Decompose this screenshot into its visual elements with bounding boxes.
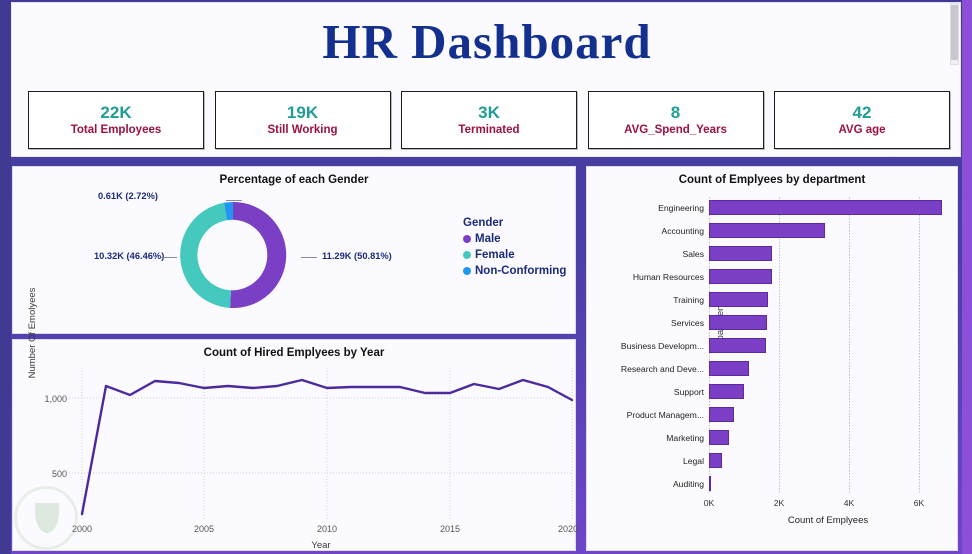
dashboard-root: HR Dashboard 22K Total Employees 19K Sti… (0, 0, 972, 554)
bar-services[interactable] (709, 315, 767, 330)
kpi-card-terminated[interactable]: 3K Terminated (401, 91, 577, 149)
bar-category-label: Support (674, 387, 704, 397)
bar-support[interactable] (709, 384, 744, 399)
chart-title-hires: Count of Hired Emplyees by Year (13, 347, 575, 359)
bar-category-label: Engineering (658, 203, 704, 213)
kpi-value: 3K (478, 102, 500, 123)
kpi-value: 8 (671, 102, 680, 123)
bar-x-tick: 0K (704, 498, 715, 508)
bar-category-label: Legal (683, 456, 704, 466)
line-chart-svg (69, 368, 573, 520)
bar-legal[interactable] (709, 453, 722, 468)
bar-category-label: Services (671, 318, 704, 328)
line-chart-x-tick: 2000 (72, 524, 92, 534)
chart-title-departments: Count of Emplyees by department (587, 174, 957, 186)
leader-line-female (161, 257, 177, 258)
donut-svg (163, 193, 303, 318)
page-title: HR Dashboard (12, 7, 962, 77)
legend-label: Male (475, 233, 501, 245)
donut-slice-female (180, 203, 231, 308)
bar-product-management[interactable] (709, 407, 734, 422)
bar-engineering[interactable] (709, 200, 942, 215)
donut-chart[interactable] (163, 193, 303, 318)
bar-chart[interactable]: department Engineering Accounting Sales … (709, 197, 947, 494)
bar-category-label: Sales (683, 249, 705, 259)
hires-by-year-panel: Count of Hired Emplyees by Year Number O… (12, 339, 576, 551)
bar-x-tick: 2K (774, 498, 785, 508)
legend-item-non-conforming[interactable]: Non-Conforming (463, 265, 566, 277)
legend-item-female[interactable]: Female (463, 249, 566, 261)
line-chart-y-tick: 500 (52, 469, 67, 479)
kpi-label: Terminated (458, 123, 519, 138)
bar-x-tick: 6K (914, 498, 925, 508)
leader-line-non-conforming (226, 200, 242, 201)
bar-category-label: Human Resources (633, 272, 704, 282)
kpi-card-still-working[interactable]: 19K Still Working (215, 91, 391, 149)
bar-sales[interactable] (709, 246, 772, 261)
bar-gridline (919, 197, 920, 494)
line-chart-x-tick: 2015 (440, 524, 460, 534)
legend-item-male[interactable]: Male (463, 233, 566, 245)
legend-swatch-icon (463, 267, 471, 275)
bar-accounting[interactable] (709, 223, 825, 238)
bar-marketing[interactable] (709, 430, 729, 445)
line-chart-x-axis-label: Year (69, 540, 573, 551)
kpi-card-avg-spend-years[interactable]: 8 AVG_Spend_Years (588, 91, 764, 149)
legend-label: Non-Conforming (475, 265, 566, 277)
bar-category-label: Product Managem... (627, 410, 704, 420)
kpi-label: AVG_Spend_Years (624, 123, 727, 138)
header-panel: HR Dashboard 22K Total Employees 19K Sti… (11, 2, 961, 157)
line-chart[interactable]: Number Of Emolyees 1,000 500 2000 2005 2… (69, 368, 573, 520)
legend-label: Female (475, 249, 515, 261)
line-chart-y-tick: 1,000 (44, 394, 67, 404)
bar-auditing[interactable] (709, 476, 711, 491)
donut-label-non-conforming: 0.61K (2.72%) (98, 191, 158, 201)
line-chart-x-tick: 2005 (194, 524, 214, 534)
bar-x-tick: 4K (844, 498, 855, 508)
right-spine (962, 0, 972, 554)
bar-category-label: Marketing (666, 433, 704, 443)
legend-swatch-icon (463, 235, 471, 243)
donut-label-female: 10.32K (46.46%) (94, 251, 164, 261)
left-spine (0, 0, 11, 554)
kpi-label: AVG age (838, 123, 885, 138)
kpi-value: 22K (100, 102, 131, 123)
line-chart-y-axis-label: Number Of Emolyees (27, 278, 38, 388)
legend-title: Gender (463, 217, 566, 229)
vertical-scrollbar-thumb[interactable] (951, 5, 958, 60)
kpi-label: Total Employees (71, 123, 162, 138)
kpi-row: 22K Total Employees 19K Still Working 3K… (28, 91, 950, 149)
bar-gridline (849, 197, 850, 494)
leader-line-male (301, 257, 317, 258)
kpi-card-total-employees[interactable]: 22K Total Employees (28, 91, 204, 149)
bar-human-resources[interactable] (709, 269, 772, 284)
kpi-label: Still Working (267, 123, 337, 138)
bar-gridline (779, 197, 780, 494)
gender-legend: Gender Male Female Non-Conforming (463, 217, 566, 277)
bar-research-and-development[interactable] (709, 361, 749, 376)
donut-slice-male (230, 202, 286, 308)
bar-category-label: Accounting (661, 226, 704, 236)
bar-training[interactable] (709, 292, 768, 307)
chart-title-gender: Percentage of each Gender (13, 174, 575, 186)
donut-label-male: 11.29K (50.81%) (322, 251, 392, 261)
bar-category-label: Auditing (673, 479, 704, 489)
legend-swatch-icon (463, 251, 471, 259)
bar-category-label: Research and Deve... (621, 364, 704, 374)
bar-category-label: Training (673, 295, 704, 305)
bar-business-development[interactable] (709, 338, 766, 353)
line-chart-x-tick: 2010 (317, 524, 337, 534)
gender-donut-panel: Percentage of each Gender 0.61K (2.72%) … (12, 166, 576, 334)
kpi-value: 19K (287, 102, 318, 123)
bar-category-label: Business Developm... (621, 341, 704, 351)
kpi-card-avg-age[interactable]: 42 AVG age (774, 91, 950, 149)
kpi-value: 42 (853, 102, 872, 123)
bar-chart-x-axis-label: Count of Emplyees (709, 515, 947, 526)
department-bar-panel: Count of Emplyees by department departme… (586, 166, 958, 551)
line-chart-x-tick: 2020 (558, 524, 578, 534)
